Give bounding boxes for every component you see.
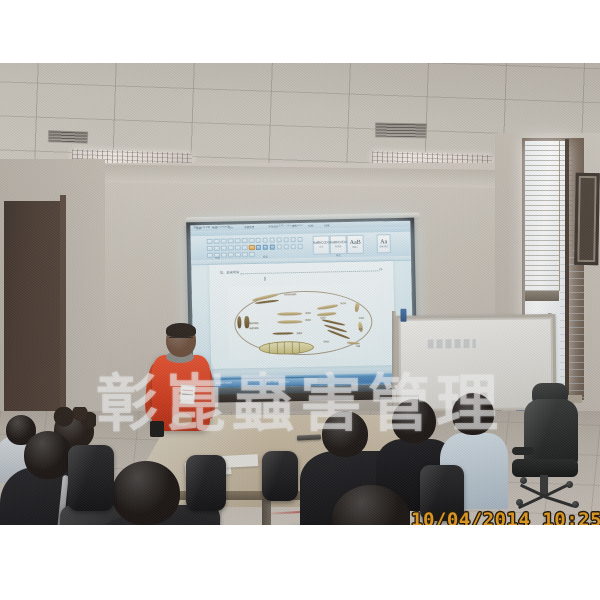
text-cursor bbox=[264, 277, 265, 281]
diagram-label-11: 幼蟲 bbox=[356, 344, 360, 347]
word-document-page: 陸、蟲害現場 24 bbox=[209, 261, 396, 369]
presenter-name-badge bbox=[179, 384, 195, 404]
whiteboard-writing bbox=[428, 339, 476, 348]
specimen bbox=[277, 320, 302, 323]
attendee-head bbox=[322, 411, 368, 457]
picture-frame bbox=[574, 173, 600, 265]
office-chair bbox=[420, 465, 464, 521]
door-jamb bbox=[60, 195, 66, 421]
exec-chair-caster bbox=[572, 501, 579, 508]
style-gallery-item-0[interactable]: AaBbCcDd 內文 bbox=[313, 235, 330, 254]
diagram-label-3: 球桿狀 bbox=[305, 311, 311, 314]
ribbon-tab-3[interactable]: 版面配置 bbox=[244, 225, 254, 229]
style-name: 內文 bbox=[319, 246, 323, 248]
diagram-label-5: 棍棒狀 bbox=[305, 319, 311, 322]
diagram-label-9: 鰓葉狀 bbox=[297, 332, 303, 335]
taskbar-item-0[interactable]: 簡報資料夾說明 bbox=[214, 377, 265, 388]
presenter-hands bbox=[172, 413, 192, 426]
whiteboard-clip bbox=[400, 309, 406, 322]
ceiling-air-vent bbox=[48, 130, 88, 143]
word-status-text: 頁面: 24/48 字數: 12,480 中文(台灣) bbox=[193, 225, 230, 230]
style-gallery-item-2[interactable]: AaB 標題 1 bbox=[347, 235, 364, 254]
table-clipboard bbox=[222, 454, 259, 468]
diagram-label-1: 剛毛狀 bbox=[340, 302, 346, 305]
exec-chair-backrest bbox=[524, 399, 578, 467]
window-blind-bottom-rail bbox=[525, 291, 559, 301]
ribbon-tab-4[interactable]: 參考資料 bbox=[268, 224, 278, 228]
diagram-label-0: 絲狀(線狀)觸角 bbox=[284, 293, 296, 296]
window-blind bbox=[525, 141, 560, 291]
presenter-belt-pouch bbox=[150, 421, 164, 437]
word-title-text: 文件1 - Microsoft Word bbox=[278, 223, 302, 228]
window-mullion bbox=[565, 139, 569, 397]
exec-chair-caster bbox=[566, 481, 573, 488]
ribbon-tab-6[interactable]: 校閱 bbox=[308, 223, 313, 227]
photograph: 文件1 - Microsoft Word 檔案 常用 插入 版面配置 參考資料 … bbox=[0, 63, 600, 525]
taskbar-item-label: 文件1 - Microsoft Word bbox=[266, 380, 289, 384]
office-chair bbox=[68, 445, 114, 511]
diagram-label-8: 膝狀 bbox=[359, 328, 363, 331]
exec-chair-armrest bbox=[512, 447, 534, 455]
diagram-label-7: 羽毛狀 bbox=[358, 316, 364, 319]
document-heading-row: 陸、蟲害現場 24 bbox=[220, 266, 383, 274]
ribbon-tab-5[interactable]: 郵件 bbox=[292, 224, 297, 228]
taskbar-item-1[interactable]: 文件1 - Microsoft Word bbox=[264, 376, 319, 387]
style-sample-text: AaBbCcDd bbox=[313, 242, 330, 246]
presenter-glasses bbox=[169, 337, 193, 342]
attendee-head bbox=[112, 461, 180, 525]
document-heading: 陸、蟲害現場 bbox=[220, 269, 239, 274]
window-daylight bbox=[560, 248, 584, 398]
diagram-label-2: 念珠狀 bbox=[320, 316, 326, 319]
leader-dots bbox=[240, 267, 378, 274]
style-name: 變更樣式 bbox=[379, 246, 388, 248]
office-chair bbox=[186, 455, 226, 511]
attendee-head bbox=[24, 431, 72, 479]
screenshot-frame: 文件1 - Microsoft Word 檔案 常用 插入 版面配置 參考資料 … bbox=[0, 0, 600, 600]
ceiling-air-vent bbox=[375, 123, 427, 139]
office-chair bbox=[262, 451, 298, 501]
insect-antenna-diagram: 絲狀(線狀)觸角 剛毛狀 念珠狀 球桿狀 鋸齒狀觸角 棍棒狀 櫛齒狀觸角 羽毛狀… bbox=[228, 283, 377, 360]
style-name: 標題 1 bbox=[352, 247, 358, 249]
style-gallery-item-3[interactable]: Aa 變更樣式 bbox=[377, 234, 391, 253]
diagram-label-6: 櫛齒狀觸角 bbox=[249, 327, 258, 330]
taskbar-item-label: 簡報資料夾說明 bbox=[216, 381, 232, 385]
diagram-label-4: 鋸齒狀觸角 bbox=[249, 321, 258, 324]
exec-chair-caster bbox=[516, 499, 523, 506]
style-name: 無間距 bbox=[335, 246, 342, 248]
document-page-number: 24 bbox=[379, 267, 383, 271]
style-sample-text: AaBbCcDd bbox=[330, 241, 347, 245]
projection-screen: 文件1 - Microsoft Word 檔案 常用 插入 版面配置 參考資料 … bbox=[190, 221, 413, 389]
style-sample-text: Aa bbox=[380, 239, 387, 245]
attendee-head bbox=[392, 399, 436, 443]
exec-chair-caster bbox=[520, 477, 527, 484]
style-sample-text: AaB bbox=[350, 240, 361, 246]
door bbox=[4, 201, 62, 419]
style-gallery-item-1[interactable]: AaBbCcDd 無間距 bbox=[330, 235, 347, 254]
diagram-label-10: 環毛狀 bbox=[323, 340, 329, 343]
attendee-head bbox=[452, 393, 494, 435]
ribbon-tab-7[interactable]: 檢視 bbox=[324, 223, 329, 227]
